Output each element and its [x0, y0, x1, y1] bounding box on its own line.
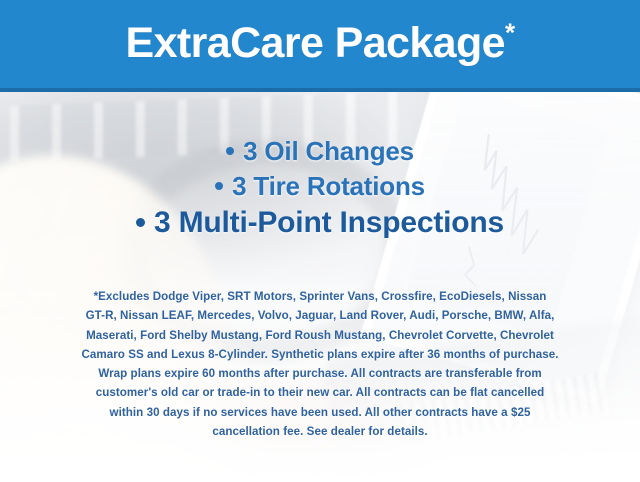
disclaimer-line: GT-R, Nissan LEAF, Mercedes, Volvo, Jagu…: [26, 306, 614, 325]
benefit-item-multi-point-inspections: 3 Multi-Point Inspections: [0, 208, 640, 238]
bullet-dot-icon: [215, 182, 223, 190]
benefit-label: 3 Multi-Point Inspections: [154, 206, 504, 239]
benefits-list: 3 Oil Changes 3 Tire Rotations 3 Multi-P…: [0, 138, 640, 247]
title-asterisk: *: [505, 17, 515, 47]
benefit-label: 3 Oil Changes: [243, 136, 414, 166]
bullet-dot-icon: [136, 218, 145, 227]
disclaimer-line: cancellation fee. See dealer for details…: [26, 422, 614, 441]
bullet-dot-icon: [226, 147, 234, 155]
disclaimer-line: within 30 days if no services have been …: [26, 403, 614, 422]
benefit-label: 3 Tire Rotations: [232, 171, 425, 201]
header-band-underline: [0, 88, 640, 92]
disclaimer-line: Camaro SS and Lexus 8-Cylinder. Syntheti…: [26, 345, 614, 364]
page-title: ExtraCare Package*: [126, 22, 515, 67]
header-band: ExtraCare Package*: [0, 0, 640, 88]
benefit-item-tire-rotations: 3 Tire Rotations: [0, 173, 640, 199]
disclaimer-text: *Excludes Dodge Viper, SRT Motors, Sprin…: [26, 287, 614, 441]
disclaimer-line: Wrap plans expire 60 months after purcha…: [26, 364, 614, 383]
disclaimer-line: *Excludes Dodge Viper, SRT Motors, Sprin…: [26, 287, 614, 306]
benefit-item-oil-changes: 3 Oil Changes: [0, 138, 640, 164]
extracare-package-promo-card: ExtraCare Package* 3 Oil Changes 3 Tire …: [0, 0, 640, 482]
page-title-text: ExtraCare Package: [126, 19, 505, 67]
disclaimer-line: Maserati, Ford Shelby Mustang, Ford Rous…: [26, 326, 614, 345]
disclaimer-line: customer's old car or trade-in to their …: [26, 383, 614, 402]
